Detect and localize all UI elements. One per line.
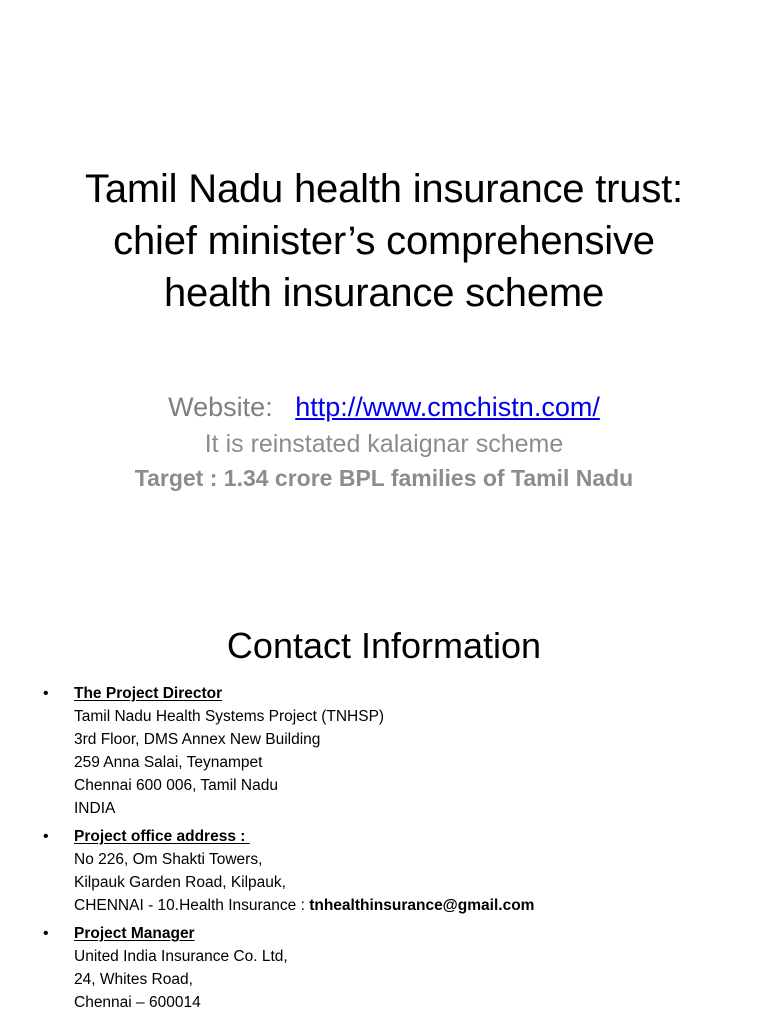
contact-line: No 226, Om Shakti Towers,: [74, 848, 740, 871]
contact-line: Chennai – 600014: [74, 991, 740, 1014]
slide-canvas: Tamil Nadu health insurance trust: chief…: [0, 0, 768, 1024]
list-item: • The Project Director Tamil Nadu Health…: [40, 682, 740, 820]
contact-line: 3rd Floor, DMS Annex New Building: [74, 728, 740, 751]
title-line-2: chief minister’s comprehensive: [64, 215, 704, 267]
contact-list: • The Project Director Tamil Nadu Health…: [40, 682, 740, 1019]
bullet-icon: •: [43, 682, 49, 705]
website-label: Website:: [168, 392, 273, 422]
slide-title: Tamil Nadu health insurance trust: chief…: [64, 163, 704, 319]
email-address[interactable]: tnhealthinsurance@gmail.com: [309, 897, 534, 914]
contact-line: 24, Whites Road,: [74, 968, 740, 991]
contact-line: United India Insurance Co. Ltd,: [74, 945, 740, 968]
list-item: • Project Manager United India Insurance…: [40, 922, 740, 1014]
bullet-icon: •: [43, 825, 49, 848]
target-note: Target : 1.34 crore BPL families of Tami…: [64, 463, 704, 493]
email-line-prefix: CHENNAI - 10.Health Insurance :: [74, 897, 309, 914]
reinstated-note: It is reinstated kalaignar scheme: [64, 426, 704, 463]
contact-line: Chennai 600 006, Tamil Nadu: [74, 774, 740, 797]
contact-group-heading: Project office address :: [74, 825, 250, 848]
website-line: Website: http://www.cmchistn.com/: [64, 388, 704, 426]
contact-information-heading: Contact Information: [64, 622, 704, 670]
contact-line: Tamil Nadu Health Systems Project (TNHSP…: [74, 705, 740, 728]
contact-line: 259 Anna Salai, Teynampet: [74, 751, 740, 774]
bullet-icon: •: [43, 922, 49, 945]
contact-group-heading: Project Manager: [74, 922, 195, 945]
contact-line: Kilpauk Garden Road, Kilpauk,: [74, 871, 740, 894]
title-line-1: Tamil Nadu health insurance trust:: [64, 163, 704, 215]
list-item: • Project office address : No 226, Om Sh…: [40, 825, 740, 917]
subtitle-block: Website: http://www.cmchistn.com/ It is …: [64, 388, 704, 493]
website-url-link[interactable]: http://www.cmchistn.com/: [295, 392, 600, 422]
title-line-3: health insurance scheme: [64, 267, 704, 319]
contact-email-line: CHENNAI - 10.Health Insurance : tnhealth…: [74, 894, 740, 917]
contact-group-heading: The Project Director: [74, 682, 222, 705]
contact-line: INDIA: [74, 797, 740, 820]
